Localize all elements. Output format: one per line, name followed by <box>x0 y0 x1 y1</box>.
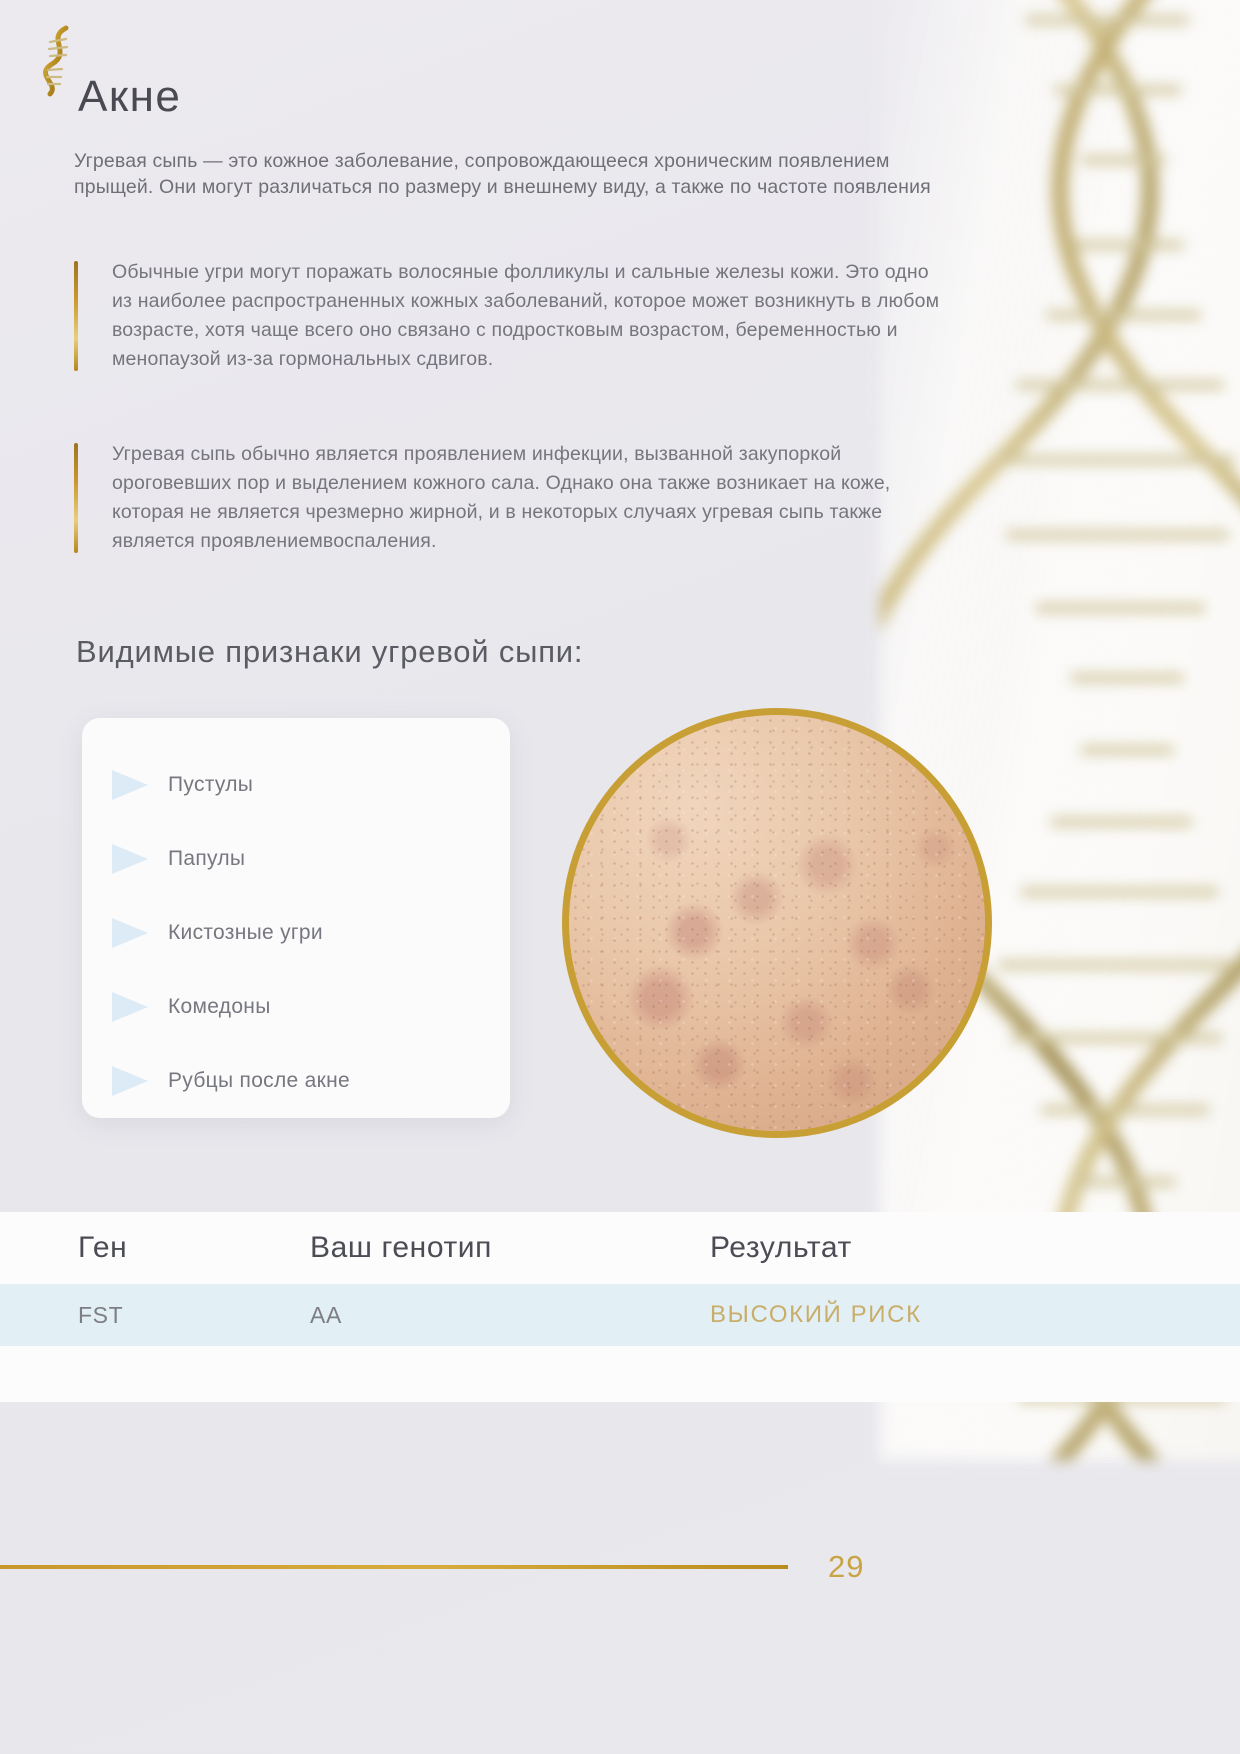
page-footer: 29 <box>0 1542 1240 1592</box>
list-item-label: Пустулы <box>168 773 253 797</box>
list-item: Кистозные угри <box>82 896 510 970</box>
cell-gene: FST <box>0 1302 310 1329</box>
list-item-label: Комедоны <box>168 995 271 1019</box>
quote-block-1: Обычные угри могут поражать волосяные фо… <box>74 258 954 374</box>
list-item-label: Папулы <box>168 847 245 871</box>
list-item-label: Рубцы после акне <box>168 1069 350 1093</box>
list-item: Комедоны <box>82 970 510 1044</box>
footer-divider <box>0 1565 788 1569</box>
quote-block-2: Угревая сыпь обычно является проявлением… <box>74 440 954 556</box>
arrow-right-icon <box>110 916 150 950</box>
arrow-right-icon <box>110 1064 150 1098</box>
acne-skin-photo <box>562 708 992 1138</box>
arrow-right-icon <box>110 842 150 876</box>
visible-signs-card: Пустулы Папулы Кистозные угри Комедоны Р <box>82 718 510 1118</box>
page-number: 29 <box>828 1549 864 1585</box>
cell-genotype: AA <box>310 1302 710 1329</box>
list-item: Пустулы <box>82 748 510 822</box>
intro-paragraph: Угревая сыпь — это кожное заболевание, с… <box>74 148 954 200</box>
table-row: FST AA ВЫСОКИЙ РИСК <box>0 1284 1240 1346</box>
column-header-gene: Ген <box>0 1231 310 1265</box>
page-title: Акне <box>78 72 181 122</box>
column-header-result: Результат <box>710 1231 1240 1265</box>
arrow-right-icon <box>110 768 150 802</box>
column-header-genotype: Ваш генотип <box>310 1231 710 1265</box>
table-header-row: Ген Ваш генотип Результат <box>0 1212 1240 1284</box>
list-item: Рубцы после акне <box>82 1044 510 1118</box>
list-item: Папулы <box>82 822 510 896</box>
result-table: Ген Ваш генотип Результат FST AA ВЫСОКИЙ… <box>0 1212 1240 1402</box>
table-footer-spacer <box>0 1346 1240 1402</box>
document-page: Акне Угревая сыпь — это кожное заболеван… <box>0 0 1240 1754</box>
skin-pore-speckle <box>569 715 985 1131</box>
list-item-label: Кистозные угри <box>168 921 323 945</box>
status-badge: ВЫСОКИЙ РИСК <box>710 1301 1240 1329</box>
arrow-right-icon <box>110 990 150 1024</box>
dna-helix-logo-icon <box>36 22 82 98</box>
signs-section-heading: Видимые признаки угревой сыпи: <box>76 634 583 670</box>
